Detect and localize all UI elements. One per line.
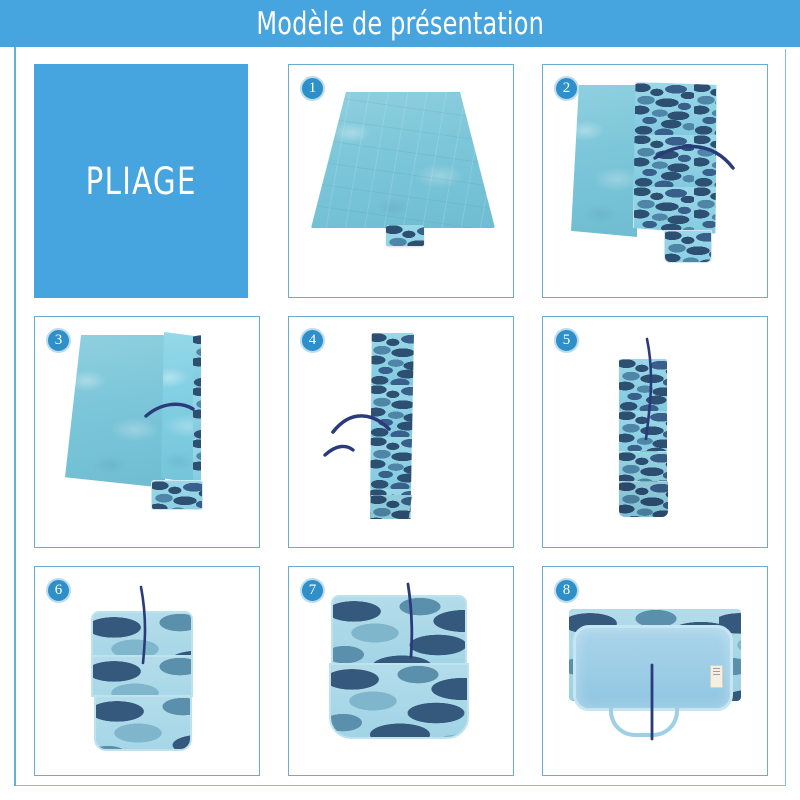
step-badge-8: 8	[554, 578, 579, 603]
fold-arrow-down	[35, 567, 260, 776]
step-artwork-7	[289, 567, 513, 775]
fold-arrow-down	[289, 567, 514, 776]
step-artwork-3	[35, 317, 259, 547]
step-badge-1: 1	[300, 76, 325, 101]
step-badge-6: 6	[46, 578, 71, 603]
mat-quilting	[311, 92, 495, 228]
cover-tile: PLIAGE	[34, 64, 248, 298]
page-title: Modèle de présentation	[256, 6, 544, 42]
step-panel-7: 7	[288, 566, 514, 776]
presentation-page: Modèle de présentation PLIAGE 1 2	[0, 0, 800, 800]
step-artwork-2	[543, 65, 767, 297]
step-panel-6: 6	[34, 566, 260, 776]
step-badge-2: 2	[554, 76, 579, 101]
page-header: Modèle de présentation	[0, 0, 800, 47]
step-artwork-5	[543, 317, 767, 547]
step-badge-3: 3	[46, 328, 71, 353]
fold-arrow-right	[35, 317, 260, 548]
frame-left-accent	[14, 47, 16, 786]
fold-arrows-right-pair	[289, 317, 514, 548]
steps-grid: PLIAGE 1 2	[34, 64, 768, 776]
step-badge-4: 4	[300, 328, 325, 353]
step-artwork-4	[289, 317, 513, 547]
unfold-arrow-up	[543, 567, 768, 776]
step-artwork-6	[35, 567, 259, 775]
step-panel-3: 3	[34, 316, 260, 548]
step-artwork-1	[289, 65, 513, 297]
step-panel-2: 2	[542, 64, 768, 298]
carry-tab	[386, 225, 424, 246]
step-artwork-8	[543, 567, 767, 775]
fold-arrow-down	[543, 317, 768, 548]
step-panel-5: 5	[542, 316, 768, 548]
step-badge-5: 5	[554, 328, 579, 353]
step-panel-1: 1	[288, 64, 514, 298]
cover-label: PLIAGE	[85, 160, 196, 203]
fold-arrow-left	[543, 65, 768, 298]
step-panel-4: 4	[288, 316, 514, 548]
step-badge-7: 7	[300, 578, 325, 603]
step-panel-8: 8	[542, 566, 768, 776]
